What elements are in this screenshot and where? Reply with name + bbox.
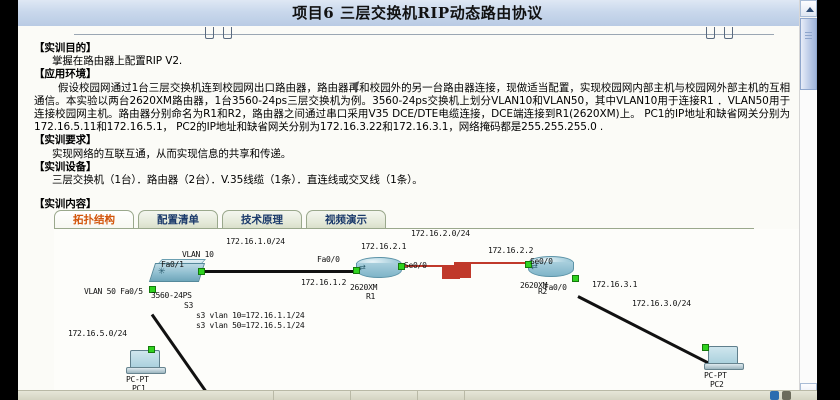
tab-stop-marker[interactable] xyxy=(205,27,214,39)
label-pc1-model: PC-PT xyxy=(126,375,149,384)
label-r2-fa00-port: Fa0/0 xyxy=(544,283,567,292)
port-indicator-r2-fa00 xyxy=(572,275,579,282)
label-net-172-16-5-0: 172.16.5.0/24 xyxy=(68,329,127,338)
section-heading-purpose: 【实训目的】 xyxy=(18,42,800,55)
label-r1-se00-ip: 172.16.2.1 xyxy=(361,242,406,251)
label-switch-model: 3560-24PS xyxy=(151,291,192,300)
screen: 项目6 三层交换机RIP动态路由协议 【实训目的】 掌握在路由器上配置RIP V… xyxy=(0,0,840,400)
taskbar-item-1[interactable] xyxy=(274,391,351,400)
tab-tech-principle[interactable]: 技术原理 xyxy=(222,210,302,230)
section-heading-equipment: 【实训设备】 xyxy=(18,161,800,174)
taskbar-region-start[interactable] xyxy=(18,391,274,400)
scrollbar-track[interactable] xyxy=(800,90,817,383)
section-text-equipment: 三层交换机（1台）．路由器（2台）．V.35线缆（1条）．直连线或交叉线（1条）… xyxy=(18,174,800,187)
tab-stop-marker[interactable] xyxy=(223,27,232,39)
network-topology-diagram: ✳ ⇄ ⇄ xyxy=(54,229,800,397)
section-heading-requirements: 【实训要求】 xyxy=(18,134,800,147)
section-heading-environment: 【应用环境】 xyxy=(18,68,800,81)
label-net-172-16-3-0: 172.16.3.0/24 xyxy=(632,299,691,308)
port-indicator-pc2 xyxy=(702,344,709,351)
link-serial-bend2 xyxy=(454,262,471,278)
label-s3-vlan50-ip: s3 vlan 50=172.16.5.1/24 xyxy=(196,321,304,330)
ruler xyxy=(18,26,817,42)
label-r1-se00-port: Se0/0 xyxy=(404,261,427,270)
label-vlan-10: VLAN 10 xyxy=(182,250,214,259)
pc-base xyxy=(126,367,166,374)
letterbox-left xyxy=(0,0,18,400)
port-indicator-pc1 xyxy=(148,346,155,353)
pc-base xyxy=(704,363,744,370)
section-text-requirements: 实现网络的互联互通，从而实现信息的共享和传递。 xyxy=(18,148,800,161)
tray-icon-system[interactable] xyxy=(782,391,791,400)
taskbar-item-3[interactable] xyxy=(418,391,465,400)
section-text-environment: 假设校园网通过1台三层交换机连到校园网出口路由器，路由器再和校园外的另一台路由器… xyxy=(18,82,800,135)
label-s3-vlan10-ip: s3 vlan 10=172.16.1.1/24 xyxy=(196,311,304,320)
ruler-line xyxy=(74,34,774,35)
label-pc2-name: PC2 xyxy=(710,380,724,389)
taskbar-item-2[interactable] xyxy=(351,391,418,400)
label-r2-fa00-ip: 172.16.3.1 xyxy=(592,280,637,289)
port-indicator-r1-fa00 xyxy=(353,267,360,274)
label-r2-se00-port: Se0/0 xyxy=(530,257,553,266)
section-text-purpose: 掌握在路由器上配置RIP V2. xyxy=(18,55,800,68)
tab-bar: 拓扑结构 配置清单 技术原理 视频演示 xyxy=(54,210,384,230)
pc2-icon[interactable] xyxy=(704,346,742,372)
label-r1-fa00-ip: 172.16.1.2 xyxy=(301,278,346,287)
taskbar xyxy=(18,390,817,400)
letterbox-right xyxy=(817,0,840,400)
label-port-fa01: Fa0/1 xyxy=(161,260,184,269)
label-switch-name: S3 xyxy=(184,301,193,310)
label-r1-name: R1 xyxy=(366,292,375,301)
tab-stop-marker[interactable] xyxy=(724,27,733,39)
label-net-172-16-1-0: 172.16.1.0/24 xyxy=(226,237,285,246)
link-r2-serial-b xyxy=(468,262,530,264)
tray-icon-browser[interactable] xyxy=(770,391,779,400)
label-r2-se00-ip: 172.16.2.2 xyxy=(488,246,533,255)
router-arrows: ⇄ xyxy=(359,263,366,272)
chevron-up-icon xyxy=(806,7,814,12)
tab-config-list[interactable]: 配置清单 xyxy=(138,210,218,230)
vertical-scrollbar[interactable] xyxy=(799,0,817,400)
label-pc2-model: PC-PT xyxy=(704,371,727,380)
label-vlan50-port: VLAN 50 Fa0/5 xyxy=(84,287,143,296)
page-title: 项目6 三层交换机RIP动态路由协议 xyxy=(18,2,817,23)
tab-video-demo[interactable]: 视频演示 xyxy=(306,210,386,230)
title-bar: 项目6 三层交换机RIP动态路由协议 xyxy=(18,0,817,27)
label-r1-fa00-port: Fa0/0 xyxy=(317,255,340,264)
document-page: 项目6 三层交换机RIP动态路由协议 【实训目的】 掌握在路由器上配置RIP V… xyxy=(18,0,817,400)
label-net-172-16-2-0: 172.16.2.0/24 xyxy=(411,229,470,238)
scrollbar-thumb[interactable] xyxy=(800,18,817,90)
router-r1-icon[interactable]: ⇄ xyxy=(356,257,400,279)
label-r1-model: 2620XM xyxy=(350,283,377,292)
port-indicator-s3-fa01 xyxy=(198,268,205,275)
scroll-up-button[interactable] xyxy=(800,0,817,17)
tab-topology[interactable]: 拓扑结构 xyxy=(54,210,134,230)
tab-stop-marker[interactable] xyxy=(706,27,715,39)
scrollbar-grip xyxy=(805,32,812,33)
pc1-icon[interactable] xyxy=(126,350,164,376)
link-s3-to-r1 xyxy=(200,270,358,273)
